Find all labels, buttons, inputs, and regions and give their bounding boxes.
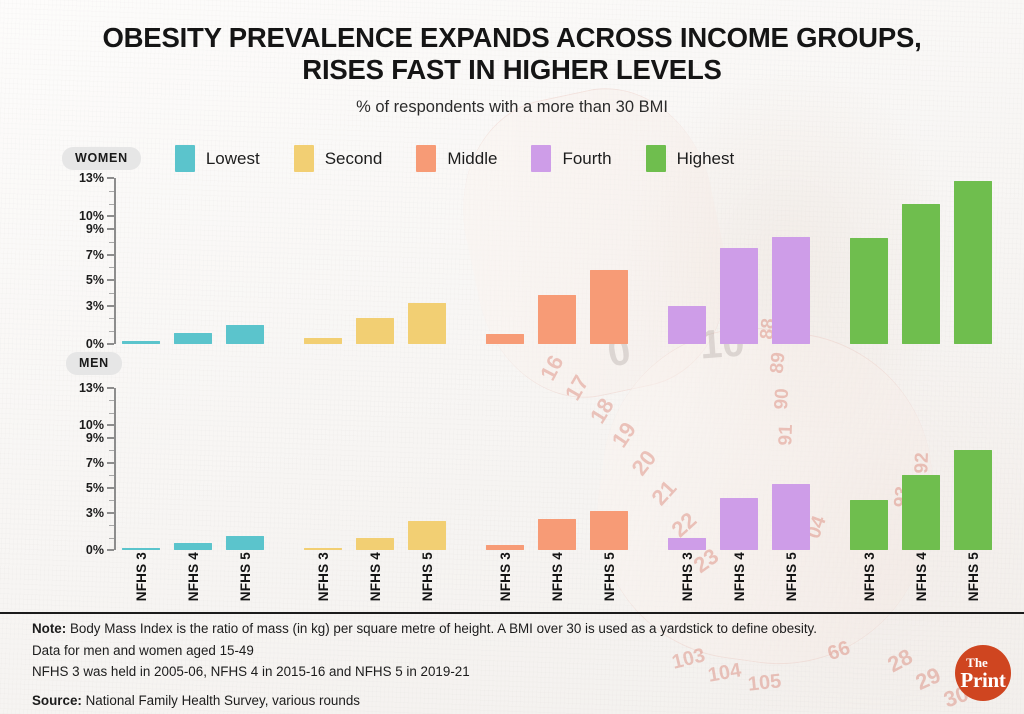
y-tick-label: 13%: [79, 171, 104, 185]
title-line-2: rises fast in higher levels: [70, 54, 954, 86]
infographic-page: 16 17 18 19 20 21 22 23 0 10 88 89 90 91…: [0, 0, 1024, 714]
bar-lowest[interactable]: [226, 536, 264, 550]
y-tick-mark-minor: [109, 242, 114, 243]
logo-the-text: The: [966, 656, 988, 669]
x-axis-label: NFHS 4: [732, 552, 747, 601]
legend-label: Highest: [677, 149, 735, 169]
bar-highest[interactable]: [850, 500, 888, 550]
y-tick-mark: [107, 228, 114, 230]
bar-fourth[interactable]: [772, 237, 810, 344]
y-tick-mark: [107, 254, 114, 256]
y-tick-mark: [107, 177, 114, 179]
y-tick-mark: [107, 462, 114, 464]
logo-print-text: Print: [960, 670, 1005, 691]
plot-area-women: [116, 178, 952, 344]
chart-legend: WOMEN Lowest Second Middle Fourth Highes…: [62, 145, 734, 172]
y-tick-mark-minor: [109, 293, 114, 294]
y-tick-mark: [107, 512, 114, 514]
bar-middle[interactable]: [486, 334, 524, 344]
legend-label: Second: [325, 149, 383, 169]
bar-fourth[interactable]: [720, 498, 758, 550]
y-tick-label: 9%: [86, 222, 104, 236]
y-tick-label: 3%: [86, 506, 104, 520]
bar-middle[interactable]: [590, 270, 628, 344]
footer: Note: Body Mass Index is the ratio of ma…: [32, 618, 932, 712]
legend-swatch-icon: [175, 145, 195, 172]
y-tick-label: 5%: [86, 481, 104, 495]
y-axis-labels-men: 0%3%5%7%9%10%13%: [62, 388, 108, 550]
legend-item-fourth[interactable]: Fourth: [531, 145, 611, 172]
theprint-logo[interactable]: The Print: [955, 645, 1011, 701]
footer-source: Source: National Family Health Survey, v…: [32, 690, 932, 712]
bar-highest[interactable]: [902, 204, 940, 344]
y-tick-mark-minor: [109, 191, 114, 192]
y-tick-label: 7%: [86, 248, 104, 262]
bar-middle[interactable]: [538, 295, 576, 344]
title-line-1: Obesity prevalence expands across income…: [70, 22, 954, 54]
y-tick-mark: [107, 387, 114, 389]
x-axis-label: NFHS 4: [550, 552, 565, 601]
y-tick-label: 7%: [86, 456, 104, 470]
x-axis-label: NFHS 5: [784, 552, 799, 601]
legend-swatch-icon: [294, 145, 314, 172]
y-tick-mark-minor: [109, 525, 114, 526]
y-tick-mark: [107, 215, 114, 217]
legend-swatch-icon: [646, 145, 666, 172]
bar-second[interactable]: [408, 303, 446, 344]
legend-item-middle[interactable]: Middle: [416, 145, 497, 172]
bar-highest[interactable]: [902, 475, 940, 550]
header: Obesity prevalence expands across income…: [0, 0, 1024, 117]
x-axis-label: NFHS 4: [914, 552, 929, 601]
bar-fourth[interactable]: [668, 538, 706, 550]
y-tick-mark: [107, 549, 114, 551]
y-axis-labels-women: 0%3%5%7%9%10%13%: [62, 178, 108, 344]
y-tick-mark: [107, 487, 114, 489]
y-tick-mark-minor: [109, 500, 114, 501]
bar-highest[interactable]: [954, 450, 992, 550]
y-tick-mark: [107, 424, 114, 426]
y-tick-label: 0%: [86, 543, 104, 557]
x-axis-label: NFHS 5: [238, 552, 253, 601]
footer-note-text: Body Mass Index is the ratio of mass (in…: [70, 621, 817, 636]
x-axis-label: NFHS 3: [498, 552, 513, 601]
x-axis-label: NFHS 3: [680, 552, 695, 601]
footer-source-text: National Family Health Survey, various r…: [86, 693, 360, 708]
bar-fourth[interactable]: [720, 248, 758, 344]
y-tick-label: 9%: [86, 431, 104, 445]
bar-second[interactable]: [304, 338, 342, 344]
x-axis-label: NFHS 4: [368, 552, 383, 601]
x-axis-label: NFHS 5: [602, 552, 617, 601]
y-tick-label: 0%: [86, 337, 104, 351]
y-tick-mark: [107, 437, 114, 439]
bar-middle[interactable]: [486, 545, 524, 550]
y-tick-mark-minor: [109, 475, 114, 476]
panel-badge-men: MEN: [66, 352, 122, 375]
x-axis-label: NFHS 3: [862, 552, 877, 601]
bar-second[interactable]: [304, 548, 342, 550]
y-tick-mark-minor: [109, 413, 114, 414]
chart-women: 0%3%5%7%9%10%13%: [62, 178, 952, 344]
bar-lowest[interactable]: [122, 341, 160, 344]
footer-note-label: Note:: [32, 621, 66, 636]
x-axis-labels: NFHS 3NFHS 4NFHS 5NFHS 3NFHS 4NFHS 5NFHS…: [116, 552, 954, 614]
bar-middle[interactable]: [538, 519, 576, 550]
y-tick-mark-minor: [109, 318, 114, 319]
panel-badge-women: WOMEN: [62, 147, 141, 170]
chart-men: 0%3%5%7%9%10%13%: [62, 388, 952, 550]
x-axis-label: NFHS 5: [966, 552, 981, 601]
y-tick-label: 10%: [79, 209, 104, 223]
x-axis-label: NFHS 3: [316, 552, 331, 601]
bar-second[interactable]: [356, 318, 394, 344]
footer-note-line-3: NFHS 3 was held in 2005-06, NFHS 4 in 20…: [32, 661, 932, 683]
y-tick-mark-minor: [109, 450, 114, 451]
y-tick-label: 5%: [86, 273, 104, 287]
y-tick-label: 3%: [86, 299, 104, 313]
legend-label: Fourth: [562, 149, 611, 169]
x-axis-label: NFHS 4: [186, 552, 201, 601]
bar-lowest[interactable]: [174, 543, 212, 550]
y-tick-label: 13%: [79, 381, 104, 395]
bar-highest[interactable]: [850, 238, 888, 344]
bar-fourth[interactable]: [772, 484, 810, 550]
x-axis-label: NFHS 3: [134, 552, 149, 601]
footer-note: Note: Body Mass Index is the ratio of ma…: [32, 618, 932, 640]
page-title: Obesity prevalence expands across income…: [70, 22, 954, 87]
page-subtitle: % of respondents with a more than 30 BMI: [0, 98, 1024, 117]
footer-source-label: Source:: [32, 693, 82, 708]
y-tick-mark-minor: [109, 400, 114, 401]
bar-lowest[interactable]: [122, 548, 160, 550]
y-tick-mark: [107, 279, 114, 281]
footer-divider: [0, 612, 1024, 614]
bar-second[interactable]: [408, 521, 446, 550]
y-tick-mark-minor: [109, 538, 114, 539]
bar-fourth[interactable]: [668, 306, 706, 344]
y-tick-mark: [107, 343, 114, 345]
footer-note-line-2: Data for men and women aged 15-49: [32, 640, 932, 662]
legend-item-lowest[interactable]: Lowest: [175, 145, 260, 172]
bar-second[interactable]: [356, 538, 394, 550]
legend-swatch-icon: [416, 145, 436, 172]
legend-item-highest[interactable]: Highest: [646, 145, 735, 172]
legend-label: Lowest: [206, 149, 260, 169]
y-tick-label: 10%: [79, 418, 104, 432]
legend-swatch-icon: [531, 145, 551, 172]
legend-item-second[interactable]: Second: [294, 145, 383, 172]
bar-lowest[interactable]: [174, 333, 212, 344]
bar-lowest[interactable]: [226, 325, 264, 344]
legend-label: Middle: [447, 149, 497, 169]
x-axis-label: NFHS 5: [420, 552, 435, 601]
y-tick-mark-minor: [109, 267, 114, 268]
bar-highest[interactable]: [954, 181, 992, 344]
y-tick-mark-minor: [109, 204, 114, 205]
y-tick-mark: [107, 305, 114, 307]
y-tick-mark-minor: [109, 331, 114, 332]
bar-middle[interactable]: [590, 511, 628, 550]
panel-badge-men-wrap: MEN: [66, 354, 122, 372]
plot-area-men: [116, 388, 952, 550]
